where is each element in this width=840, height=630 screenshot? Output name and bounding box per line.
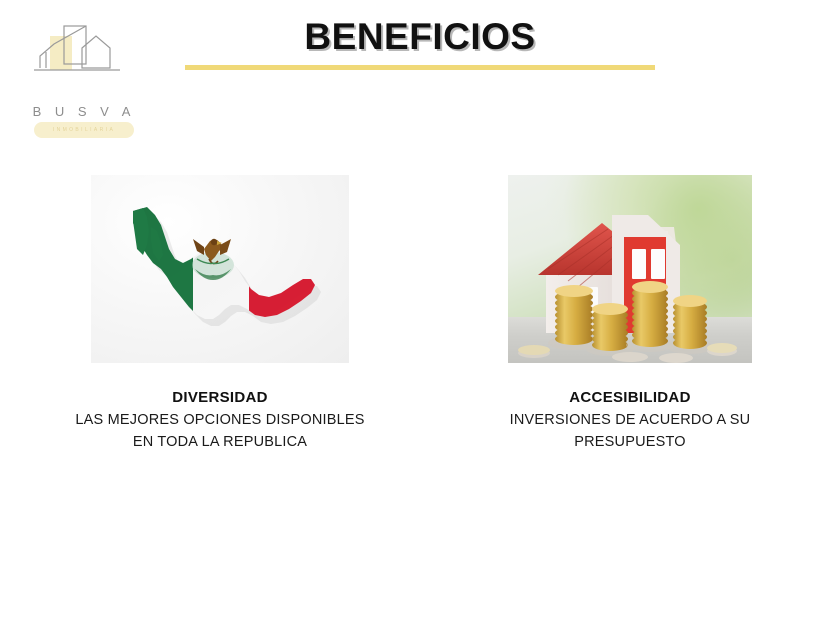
benefit-column-accesibilidad: ACCESIBILIDAD INVERSIONES DE ACUERDO A S… [440, 175, 820, 454]
busva-buildings-logo-icon [24, 22, 144, 84]
busva-subtitle: INMOBILIARIA [53, 127, 115, 133]
slide-canvas: B U S V A INMOBILIARIA BENEFICIOS [0, 0, 840, 630]
caption-line-2: EN TODA LA REPUBLICA [20, 431, 420, 453]
busva-wordmark: B U S V A [24, 104, 144, 119]
page-title: BENEFICIOS [180, 16, 660, 58]
caption-heading: DIVERSIDAD [20, 387, 420, 409]
busva-logo[interactable]: B U S V A INMOBILIARIA [24, 22, 144, 122]
busva-subtitle-band: INMOBILIARIA [34, 122, 134, 138]
mexico-eagle-emblem [192, 239, 234, 280]
caption-line-1: INVERSIONES DE ACUERDO A SU [440, 409, 820, 431]
caption-line-2: PRESUPUESTO [440, 431, 820, 453]
benefit-column-diversidad: DIVERSIDAD LAS MEJORES OPCIONES DISPONIB… [20, 175, 420, 454]
house-with-coin-stacks-image [508, 175, 752, 363]
caption-heading: ACCESIBILIDAD [440, 387, 820, 409]
caption-accesibilidad: ACCESIBILIDAD INVERSIONES DE ACUERDO A S… [440, 387, 820, 454]
caption-line-1: LAS MEJORES OPCIONES DISPONIBLES [20, 409, 420, 431]
title-underline-rule [185, 65, 655, 70]
caption-diversidad: DIVERSIDAD LAS MEJORES OPCIONES DISPONIB… [20, 387, 420, 454]
mexico-map-flag-image [91, 175, 349, 363]
